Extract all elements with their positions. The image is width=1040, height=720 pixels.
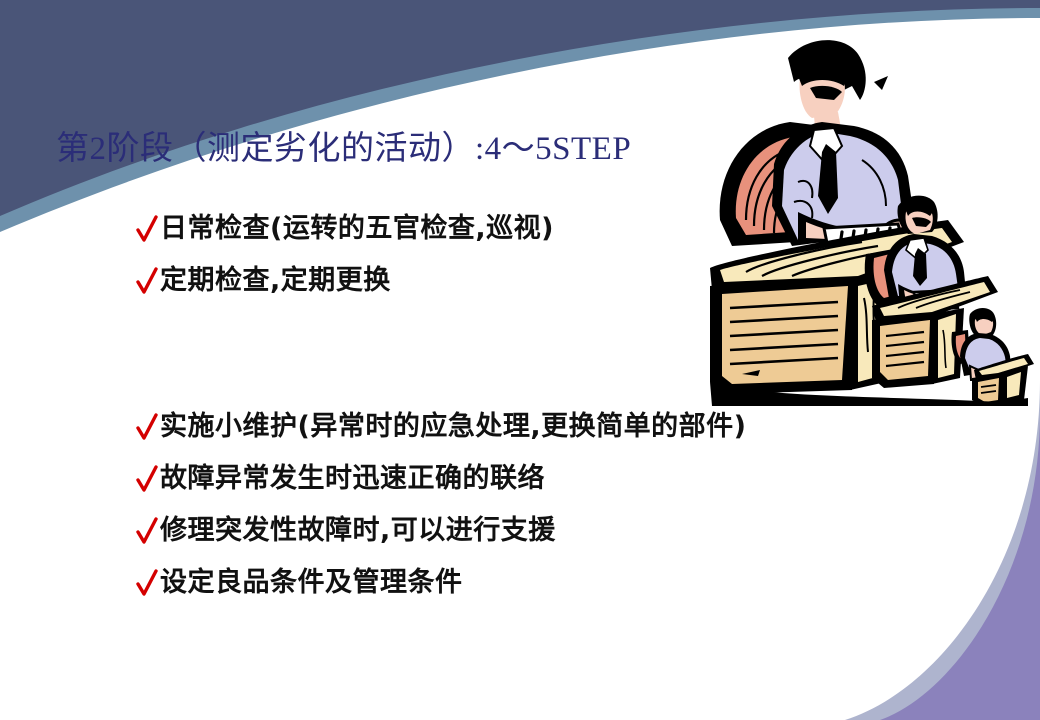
check-icon	[136, 567, 158, 601]
list-item: 实施小维护(异常时的应急处理,更换简单的部件)	[136, 410, 746, 444]
bullet-group-upper: 日常检查(运转的五官检查,巡视) 定期检查,定期更换	[136, 212, 554, 298]
list-item: 故障异常发生时迅速正确的联络	[136, 462, 746, 496]
list-item-label: 故障异常发生时迅速正确的联络	[160, 462, 545, 496]
list-item-label: 修理突发性故障时,可以进行支援	[160, 514, 556, 548]
list-item-label: 日常检查(运转的五官检查,巡视)	[160, 212, 554, 246]
page-title: 第2阶段（测定劣化的活动）:4～5STEP	[56, 128, 631, 170]
check-icon	[136, 515, 158, 549]
check-icon	[136, 411, 158, 445]
list-item: 设定良品条件及管理条件	[136, 566, 746, 600]
list-item-label: 设定良品条件及管理条件	[160, 566, 463, 600]
bottom-purple-wedge	[880, 412, 1040, 720]
bullet-group-lower: 实施小维护(异常时的应急处理,更换简单的部件) 故障异常发生时迅速正确的联络 修…	[136, 410, 746, 600]
list-item-label: 实施小维护(异常时的应急处理,更换简单的部件)	[160, 410, 746, 444]
list-item-label: 定期检查,定期更换	[160, 264, 391, 298]
check-icon	[136, 265, 158, 299]
list-item: 日常检查(运转的五官检查,巡视)	[136, 212, 554, 246]
list-item: 修理突发性故障时,可以进行支援	[136, 514, 746, 548]
slide-canvas: 第2阶段（测定劣化的活动）:4～5STEP 日常检查(运转的五官检查,巡视) 定…	[0, 0, 1040, 720]
office-hierarchy-illustration	[702, 30, 1038, 406]
check-icon	[136, 213, 158, 247]
bottom-lavender-band	[845, 380, 1040, 720]
check-icon	[136, 463, 158, 497]
list-item: 定期检查,定期更换	[136, 264, 554, 298]
